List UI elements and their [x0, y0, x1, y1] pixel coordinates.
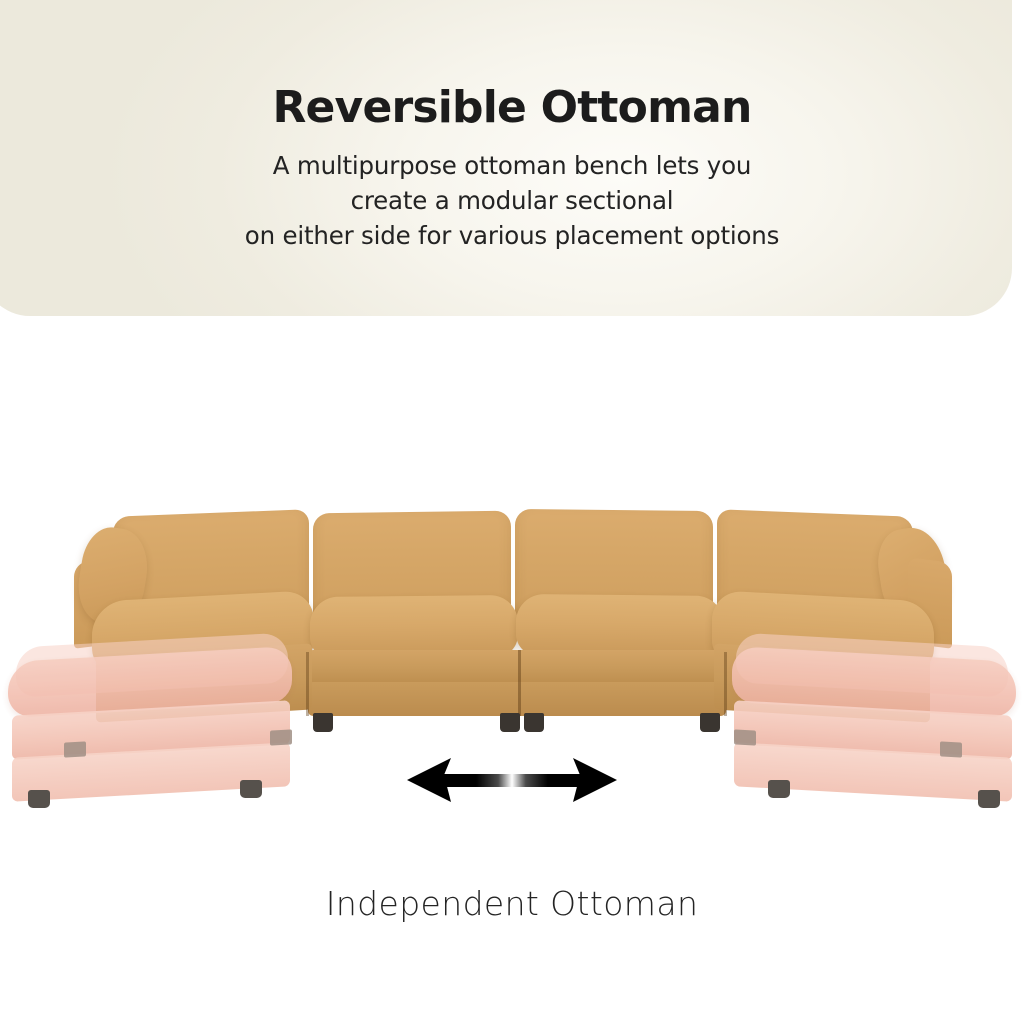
- sofa-leg-4: [700, 713, 720, 732]
- sofa-base-lower-center: [308, 682, 726, 716]
- sofa-leg-3: [524, 713, 544, 732]
- ottoman-left-leg-back: [240, 780, 262, 798]
- ottoman-left[interactable]: [8, 640, 296, 812]
- ottoman-left-leg-front: [28, 790, 50, 808]
- module-seam-left: [306, 652, 309, 716]
- sofa-leg-2: [500, 713, 520, 732]
- ottoman-right-connector-tab-b: [940, 741, 962, 757]
- ottoman-right-connector-tab-a: [734, 729, 756, 745]
- seat-cushion-center-2: [516, 594, 724, 658]
- ottoman-left-connector-tab-a: [64, 741, 86, 757]
- reversible-direction-arrow: [405, 753, 619, 807]
- sofa-leg-1: [313, 713, 333, 732]
- product-infographic-page: Reversible Ottoman A multipurpose ottoma…: [0, 0, 1024, 1024]
- sectional-sofa-illustration: [0, 0, 1024, 1024]
- module-seam-center: [518, 650, 521, 716]
- ottoman-right-leg-front: [978, 790, 1000, 808]
- product-caption: Independent Ottoman: [0, 884, 1024, 923]
- double-arrow-icon: [405, 753, 619, 807]
- ottoman-right-leg-back: [768, 780, 790, 798]
- module-seam-right: [724, 652, 727, 716]
- ottoman-right[interactable]: [728, 640, 1016, 812]
- ottoman-left-connector-tab-b: [270, 729, 292, 745]
- sofa-base-upper-center: [308, 650, 726, 684]
